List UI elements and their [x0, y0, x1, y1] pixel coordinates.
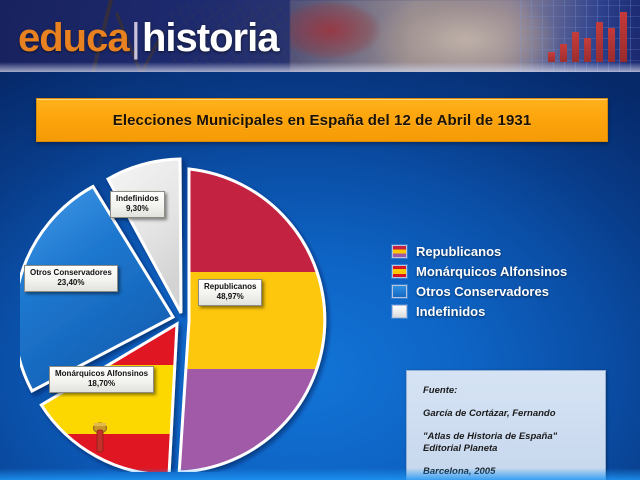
- callout-republicanos: Republicanos 48,97%: [198, 279, 262, 306]
- source-heading: Fuente:: [423, 385, 589, 397]
- legend-label-otros-conservadores: Otros Conservadores: [416, 284, 549, 299]
- legend-item-otros-conservadores[interactable]: Otros Conservadores: [392, 284, 567, 299]
- site-logo[interactable]: educa|historia: [18, 18, 278, 58]
- callout-republicanos-value: 48,97%: [204, 292, 256, 302]
- callout-indefinidos-value: 9,30%: [116, 204, 159, 214]
- source-citation-box: Fuente: García de Cortázar, Fernando "At…: [406, 370, 606, 480]
- callout-otros-conservadores-name: Otros Conservadores: [30, 268, 112, 278]
- logo-educa-text: educa: [18, 16, 129, 60]
- chart-legend: Republicanos Monárquicos Alfonsinos Otro…: [392, 244, 567, 324]
- page-title: Elecciones Municipales en España del 12 …: [113, 112, 532, 129]
- legend-label-indefinidos: Indefinidos: [416, 304, 485, 319]
- callout-otros-conservadores: Otros Conservadores 23,40%: [24, 265, 118, 292]
- source-work-title: "Atlas de Historia de España": [423, 431, 589, 443]
- banner-bar-chart-decor: [546, 8, 632, 68]
- legend-label-republicanos: Republicanos: [416, 244, 501, 259]
- legend-item-republicanos[interactable]: Republicanos: [392, 244, 567, 259]
- pie-chart-svg: [20, 152, 370, 472]
- logo-separator: |: [131, 16, 140, 60]
- source-place-year: Barcelona, 2005: [423, 466, 589, 478]
- white-square-icon: [392, 305, 407, 318]
- callout-indefinidos: Indefinidos 9,30%: [110, 191, 165, 218]
- monarchist-flag-icon: [392, 265, 407, 278]
- logo-historia-text: historia: [142, 16, 278, 60]
- callout-monarquicos: Monárquicos Alfonsinos 18,70%: [49, 366, 154, 393]
- pie-slice-republicanos[interactable]: [179, 169, 325, 472]
- callout-republicanos-name: Republicanos: [204, 282, 256, 292]
- pie-chart: Republicanos 48,97% Otros Conservadores …: [20, 152, 370, 472]
- callout-monarquicos-value: 18,70%: [55, 379, 148, 389]
- banner-bottom-sheen: [0, 62, 640, 72]
- blue-square-icon: [392, 285, 407, 298]
- slide-body: Elecciones Municipales en España del 12 …: [0, 72, 640, 480]
- source-work-block: "Atlas de Historia de España" Editorial …: [423, 431, 589, 455]
- site-banner: educa|historia: [0, 0, 640, 72]
- callout-monarquicos-name: Monárquicos Alfonsinos: [55, 369, 148, 379]
- slide-title-bar: Elecciones Municipales en España del 12 …: [36, 98, 608, 142]
- legend-label-monarquicos: Monárquicos Alfonsinos: [416, 264, 567, 279]
- legend-item-indefinidos[interactable]: Indefinidos: [392, 304, 567, 319]
- source-publisher: Editorial Planeta: [423, 443, 589, 455]
- callout-otros-conservadores-value: 23,40%: [30, 278, 112, 288]
- republican-tricolor-flag-icon: [392, 245, 407, 258]
- pie-slices: [20, 159, 325, 472]
- slide-canvas: educa|historia Elecciones Municipales en…: [0, 0, 640, 480]
- legend-item-monarquicos[interactable]: Monárquicos Alfonsinos: [392, 264, 567, 279]
- source-author: García de Cortázar, Fernando: [423, 408, 589, 420]
- callout-indefinidos-name: Indefinidos: [116, 194, 159, 204]
